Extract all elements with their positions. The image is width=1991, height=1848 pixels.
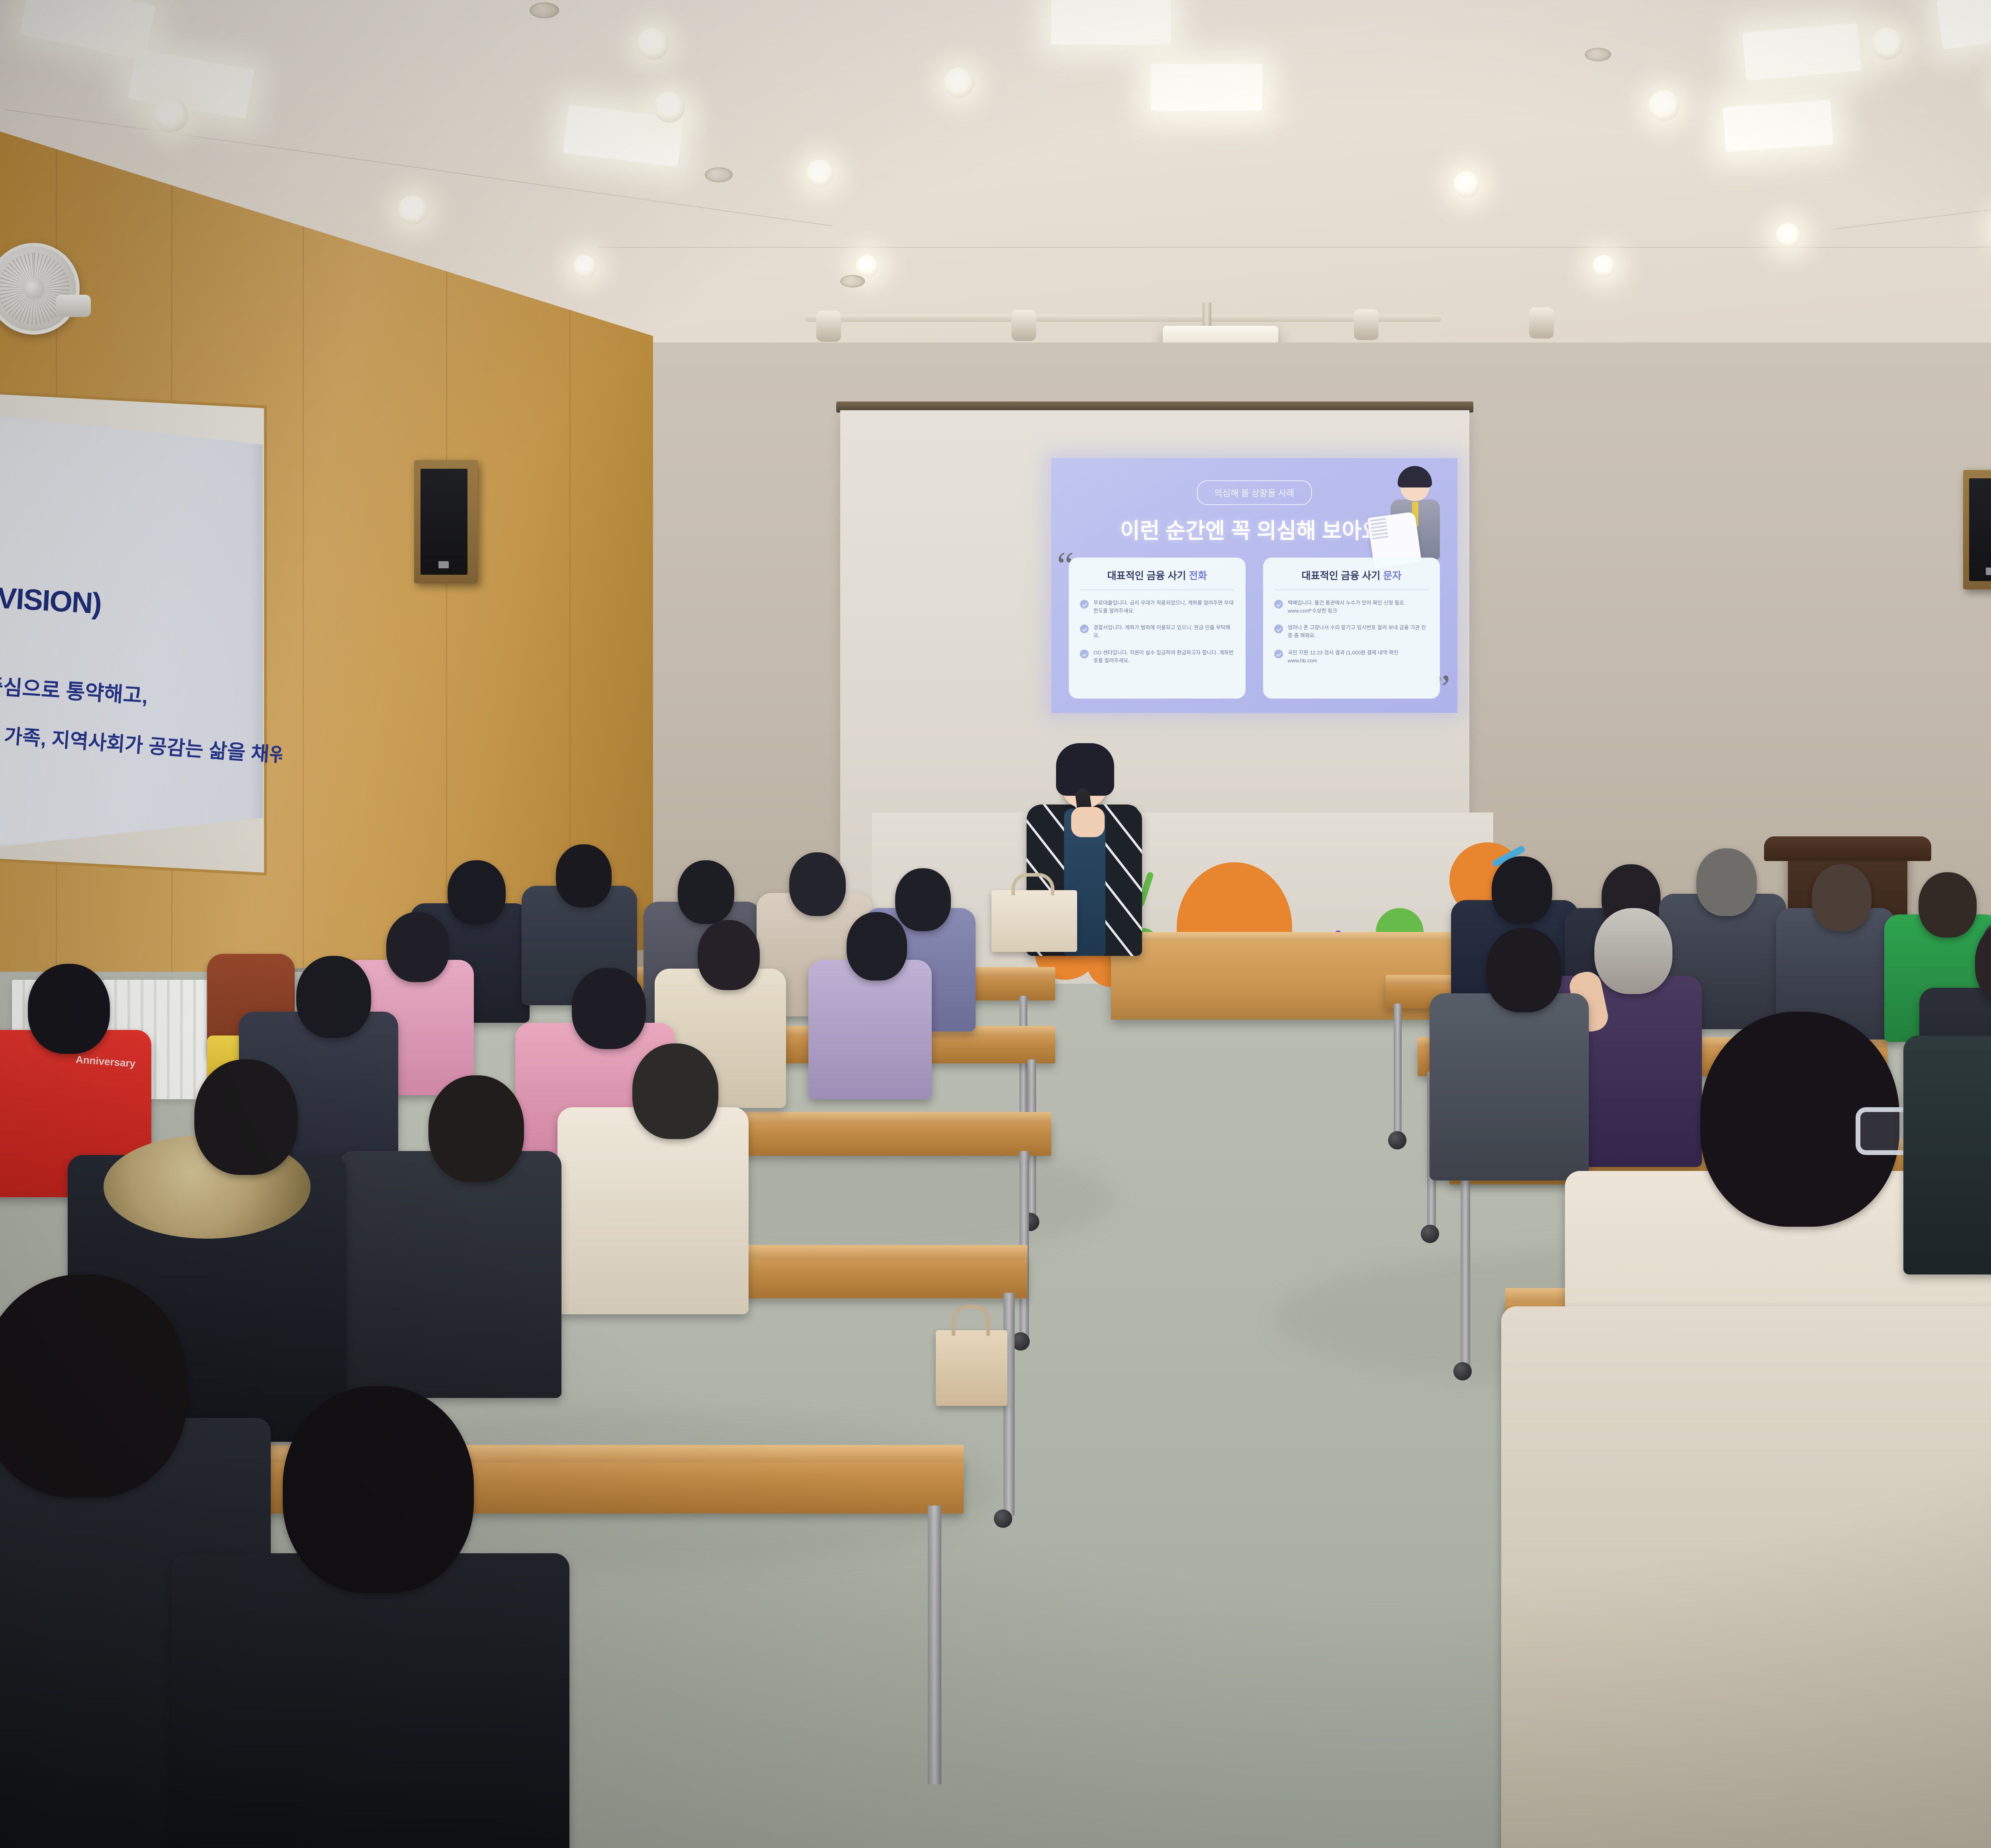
slide-bullet: 엄마나 폰 고장나서 수리 맡기고 임시번호 알려 보내 금융 기관 인증 좀 …: [1274, 624, 1429, 640]
ceiling-downlight: [944, 68, 974, 98]
ceiling-light-panel: [1742, 23, 1861, 81]
ceiling-seam: [597, 247, 1991, 248]
table-caster: [1388, 1131, 1406, 1149]
slide-bullet-text: 택배입니다. 물건 통관에서 누수가 있어 확인 신청 필요. www.conf…: [1288, 599, 1429, 615]
table-caster: [1421, 1225, 1439, 1243]
ceiling-light-panel: [1936, 0, 1991, 49]
tote-bag: [992, 890, 1077, 952]
ceiling-fitting: [530, 2, 559, 18]
vision-banner: [0, 414, 263, 848]
tote-bag-handle: [1011, 873, 1054, 895]
ceiling-downlight: [1649, 90, 1680, 121]
ceiling-fitting: [1585, 48, 1611, 61]
slide-title: 이런 순간엔 꼭 의심해 보아요!: [1120, 513, 1389, 544]
check-circle-icon: [1274, 650, 1283, 658]
slide-bullet-text: OO 센터입니다. 직원이 실수 입금하여 환급하고자 합니다. 계좌번호를 알…: [1093, 649, 1234, 665]
ceiling-downlight: [154, 98, 188, 132]
wall-speaker-right: [1963, 470, 1991, 589]
slide-badge: 의심해 볼 상황들 사례: [1197, 480, 1312, 505]
table-leg: [1461, 1180, 1470, 1368]
slide-bullet: 무료대출입니다. 금리 우대가 적용되었으니, 계좌를 알려주면 우대한도를 알…: [1080, 599, 1234, 615]
ceiling-downlight: [573, 255, 597, 278]
projector-mount-arm: [1203, 303, 1211, 327]
ceiling-fitting: [840, 275, 865, 288]
ceiling-downlight: [398, 195, 428, 225]
slide-bullet-text: 경찰서입니다. 계좌가 범죄에 이용되고 있으니, 현금 인출 부탁해요.: [1093, 624, 1234, 640]
track-light-head: [1529, 307, 1554, 339]
projected-slide: 의심해 볼 상황들 사례 이런 순간엔 꼭 의심해 보아요! “ ” 대표적인 …: [1051, 458, 1457, 713]
slide-card: 대표적인 금융 사기 문자 택배입니다. 물건 통관에서 누수가 있어 확인 신…: [1263, 558, 1440, 699]
ceiling-downlight: [654, 92, 685, 123]
track-light-head: [1354, 309, 1379, 340]
wall-fan-left[interactable]: [0, 243, 80, 335]
ceiling-light-panel: [1051, 0, 1171, 45]
track-light-rail: [804, 315, 1441, 322]
wall-speaker-left: [414, 460, 478, 583]
slide-card-heading-accent: 문자: [1383, 570, 1401, 581]
table-leg: [1019, 1151, 1029, 1338]
track-light-head: [816, 311, 841, 342]
slide-card-heading: 대표적인 금융 사기 전화: [1080, 568, 1234, 590]
slide-bullet-text: 무료대출입니다. 금리 우대가 적용되었으니, 계좌를 알려주면 우대한도를 알…: [1093, 599, 1234, 615]
check-circle-icon: [1274, 600, 1283, 609]
ceiling-downlight: [856, 255, 878, 277]
ceiling-downlight: [806, 159, 834, 187]
ceiling-downlight: [1872, 28, 1903, 60]
ceiling-light-panel: [1723, 100, 1833, 152]
slide-card-heading: 대표적인 금융 사기 문자: [1274, 568, 1429, 590]
presenter-hair: [1056, 743, 1114, 796]
check-circle-icon: [1080, 600, 1089, 609]
table-leg: [928, 1505, 941, 1784]
check-circle-icon: [1080, 624, 1089, 633]
slide-bullet: OO 센터입니다. 직원이 실수 입금하여 환급하고자 합니다. 계좌번호를 알…: [1080, 649, 1234, 665]
slide-card-list: 대표적인 금융 사기 전화 무료대출입니다. 금리 우대가 적용되었으니, 계좌…: [1069, 558, 1440, 699]
presenter-hands: [1071, 807, 1105, 837]
ceiling-light-panel: [1151, 64, 1262, 111]
table-leg: [1394, 1004, 1402, 1135]
check-circle-icon: [1080, 650, 1089, 658]
slide-bullet-text: 국민 지원 12.23 검사 결과 (1,000원 결제 내역 확인 www.h…: [1288, 649, 1429, 665]
slide-bullet: 택배입니다. 물건 통관에서 누수가 있어 확인 신청 필요. www.conf…: [1274, 599, 1429, 615]
check-circle-icon: [1274, 624, 1283, 633]
wall-fan-left-arm: [56, 295, 91, 317]
ceiling-fitting: [705, 167, 733, 182]
table-caster: [994, 1509, 1012, 1528]
slide-bullet: 경찰서입니다. 계좌가 범죄에 이용되고 있으니, 현금 인출 부탁해요.: [1080, 624, 1234, 640]
table-caster: [1453, 1362, 1472, 1380]
slide-card-heading-main: 대표적인 금융 사기: [1302, 570, 1381, 581]
slide-bullet: 국민 지원 12.23 검사 결과 (1,000원 결제 내역 확인 www.h…: [1274, 649, 1429, 665]
slide-card-bullets: 무료대출입니다. 금리 우대가 적용되었으니, 계좌를 알려주면 우대한도를 알…: [1080, 590, 1234, 665]
slide-card-bullets: 택배입니다. 물건 통관에서 누수가 있어 확인 신청 필요. www.conf…: [1274, 590, 1429, 665]
slide-card-heading-accent: 전화: [1189, 570, 1207, 581]
slide-bullet-text: 엄마나 폰 고장나서 수리 맡기고 임시번호 알려 보내 금융 기관 인증 좀 …: [1288, 624, 1429, 640]
slide-card: 대표적인 금융 사기 전화 무료대출입니다. 금리 우대가 적용되었으니, 계좌…: [1069, 558, 1246, 699]
ceiling-downlight: [637, 28, 669, 60]
handbag: [936, 1330, 1007, 1406]
ceiling-downlight: [1453, 171, 1480, 198]
ceiling-downlight: [1776, 223, 1801, 248]
handbag-handle: [952, 1305, 990, 1336]
slide-card-heading-main: 대표적인 금융 사기: [1107, 570, 1186, 581]
lecture-room-photo: (VISION) 중심으로 통약해고, 과 가족, 지역사회가 공감는 삶을 채…: [0, 0, 1991, 1848]
ceiling-downlight: [1593, 255, 1615, 277]
lectern-top: [1764, 836, 1931, 861]
track-light-head: [1011, 310, 1036, 341]
